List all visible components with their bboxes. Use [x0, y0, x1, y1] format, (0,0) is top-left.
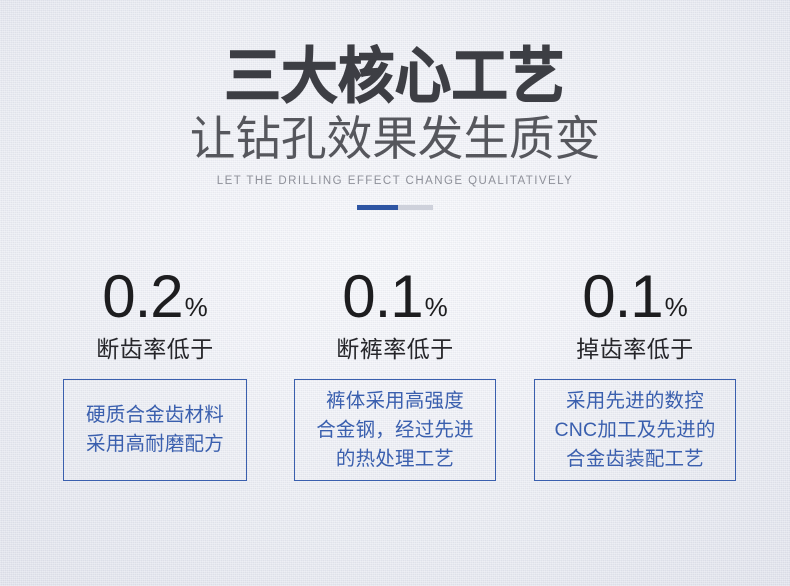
stat-box-3: 采用先进的数控 CNC加工及先进的 合金齿装配工艺 — [534, 379, 736, 481]
stat-figure-3: 0.1 % — [582, 268, 688, 326]
divider-blue-segment — [357, 205, 398, 210]
headline-block: 三大核心工艺 让钻孔效果发生质变 LET THE DRILLING EFFECT… — [0, 44, 790, 210]
page-subtitle: 让钻孔效果发生质变 — [12, 112, 778, 166]
stat-box-1-line-1: 硬质合金齿材料 — [86, 401, 224, 430]
stat-column-1: 0.2 % 断齿率低于 硬质合金齿材料 采用高耐磨配方 — [40, 268, 270, 481]
stat-number-3: 0.1 — [582, 268, 662, 326]
stat-number-2: 0.1 — [342, 268, 422, 326]
stat-box-3-line-2: CNC加工及先进的 — [554, 416, 715, 445]
stat-box-3-line-3: 合金齿装配工艺 — [566, 445, 704, 474]
stat-percent-3: % — [665, 292, 688, 322]
stat-label-1: 断齿率低于 — [96, 335, 214, 363]
stat-number-1: 0.2 — [102, 268, 182, 326]
stat-column-2: 0.1 % 断裤率低于 裤体采用高强度 合金钢，经过先进 的热处理工艺 — [280, 268, 510, 481]
stat-box-3-line-1: 采用先进的数控 — [566, 387, 704, 416]
stat-box-1: 硬质合金齿材料 采用高耐磨配方 — [63, 379, 247, 481]
stat-figure-2: 0.1 % — [342, 268, 448, 326]
stat-box-2-line-2: 合金钢，经过先进 — [316, 416, 474, 445]
page-subtitle-english: LET THE DRILLING EFFECT CHANGE QUALITATI… — [0, 174, 790, 188]
stat-box-2-line-3: 的热处理工艺 — [336, 445, 454, 474]
stat-box-1-line-2: 采用高耐磨配方 — [86, 430, 224, 459]
stat-box-2-line-1: 裤体采用高强度 — [326, 387, 464, 416]
stat-figure-1: 0.2 % — [102, 268, 208, 326]
stat-percent-2: % — [425, 292, 448, 322]
divider-grey-segment — [398, 205, 433, 210]
stat-percent-1: % — [185, 292, 208, 322]
promo-poster: 三大核心工艺 让钻孔效果发生质变 LET THE DRILLING EFFECT… — [0, 0, 790, 586]
stat-label-3: 掉齿率低于 — [576, 335, 694, 363]
stat-label-2: 断裤率低于 — [336, 335, 454, 363]
stats-row: 0.2 % 断齿率低于 硬质合金齿材料 采用高耐磨配方 0.1 % 断裤率低于 … — [40, 268, 750, 481]
page-title: 三大核心工艺 — [28, 44, 763, 110]
stat-box-2: 裤体采用高强度 合金钢，经过先进 的热处理工艺 — [294, 379, 496, 481]
divider — [357, 205, 433, 210]
stat-column-3: 0.1 % 掉齿率低于 采用先进的数控 CNC加工及先进的 合金齿装配工艺 — [520, 268, 750, 481]
